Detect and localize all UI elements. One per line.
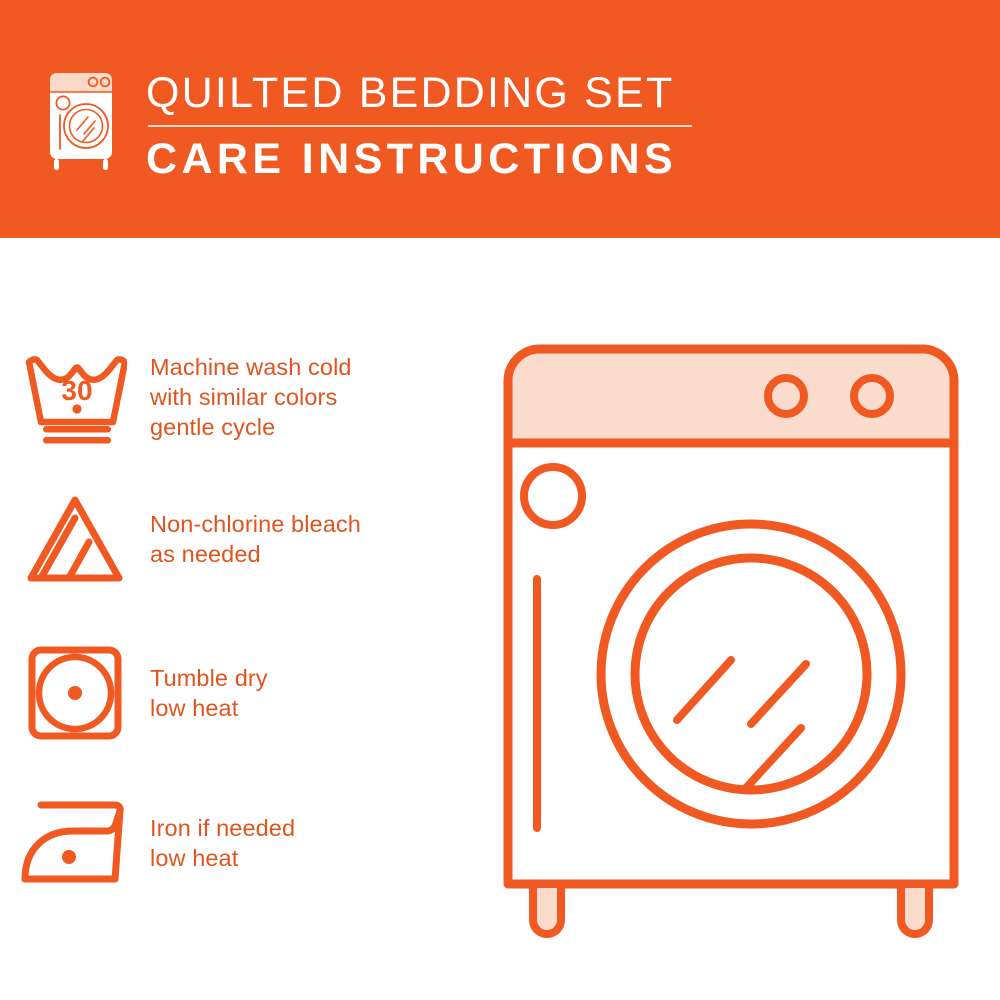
iron-icon (19, 801, 131, 885)
tumble-dry-symbol (0, 645, 150, 741)
header-divider (148, 125, 692, 127)
leg-left (533, 884, 561, 934)
header-banner: QUILTED BEDDING SET CARE INSTRUCTIONS (0, 0, 1000, 238)
wash-temperature-value: 30 (61, 375, 92, 406)
control-panel (513, 354, 950, 443)
leg-right (901, 884, 929, 934)
washing-machine-illustration (486, 326, 976, 941)
triangle-bleach-icon (25, 494, 125, 584)
wash-tub-30-icon: 30 (23, 350, 127, 444)
care-instructions-infographic: QUILTED BEDDING SET CARE INSTRUCTIONS 30… (0, 0, 1000, 1000)
care-item-tumble-dry: Tumble dry low heat (0, 634, 268, 752)
care-item-iron: Iron if needed low heat (0, 788, 295, 898)
machine-wash-symbol: 30 (0, 350, 150, 444)
page-subtitle: CARE INSTRUCTIONS (146, 133, 706, 185)
care-label-iron: Iron if needed low heat (150, 813, 295, 873)
care-item-bleach: Non-chlorine bleach as needed (0, 484, 361, 594)
tumble-dry-icon (27, 645, 123, 741)
care-label-tumble-dry: Tumble dry low heat (150, 663, 268, 723)
page-title: QUILTED BEDDING SET (146, 68, 706, 118)
care-label-bleach: Non-chlorine bleach as needed (150, 509, 361, 569)
iron-symbol (0, 801, 150, 885)
non-chlorine-bleach-symbol (0, 494, 150, 584)
care-label-machine-wash: Machine wash cold with similar colors ge… (150, 352, 352, 442)
washing-machine-icon (44, 70, 120, 174)
care-item-machine-wash: 30 Machine wash cold with similar colors… (0, 342, 352, 452)
header-text-block: QUILTED BEDDING SET CARE INSTRUCTIONS (146, 68, 706, 185)
